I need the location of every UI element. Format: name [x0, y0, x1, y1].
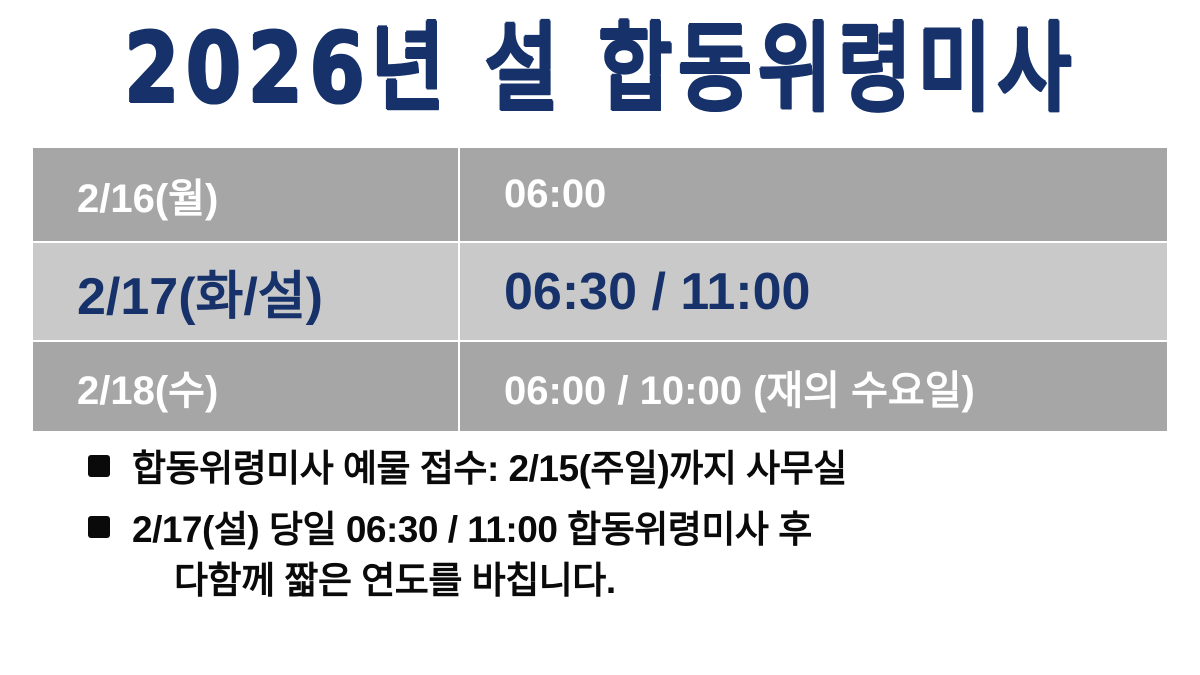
square-bullet-icon — [88, 516, 110, 538]
square-bullet-icon — [88, 455, 110, 477]
title-banner: 2026년 설 합동위령미사 — [0, 0, 1200, 140]
page-title: 2026년 설 합동위령미사 — [123, 22, 1076, 119]
schedule-date-cell: 2/18(수) — [33, 342, 458, 431]
note-line: 다함께 짧은 연도를 바칩니다. — [132, 555, 1173, 606]
note-line: 합동위령미사 예물 접수: 2/15(주일)까지 사무실 — [132, 443, 1173, 494]
note-line: 2/17(설) 당일 06:30 / 11:00 합동위령미사 후 — [132, 504, 1173, 555]
mass-schedule-table: 2/16(월) 06:00 2/17(화/설) 06:30 / 11:00 2/… — [33, 148, 1167, 433]
list-item: 2/17(설) 당일 06:30 / 11:00 합동위령미사 후 다함께 짧은… — [33, 504, 1173, 606]
schedule-date-cell: 2/16(월) — [33, 148, 458, 241]
notes-list: 합동위령미사 예물 접수: 2/15(주일)까지 사무실 2/17(설) 당일 … — [33, 443, 1173, 616]
table-row: 2/18(수) 06:00 / 10:00 (재의 수요일) — [33, 342, 1167, 431]
schedule-time-cell: 06:00 / 10:00 (재의 수요일) — [460, 342, 1167, 431]
note-body: 합동위령미사 예물 접수: 2/15(주일)까지 사무실 — [132, 443, 1173, 494]
list-item: 합동위령미사 예물 접수: 2/15(주일)까지 사무실 — [33, 443, 1173, 494]
table-row: 2/16(월) 06:00 — [33, 148, 1167, 241]
schedule-time-cell: 06:00 — [460, 148, 1167, 241]
table-row: 2/17(화/설) 06:30 / 11:00 — [33, 243, 1167, 340]
note-body: 2/17(설) 당일 06:30 / 11:00 합동위령미사 후 다함께 짧은… — [132, 504, 1173, 606]
schedule-time-cell: 06:30 / 11:00 — [460, 243, 1167, 340]
schedule-date-cell: 2/17(화/설) — [33, 243, 458, 340]
